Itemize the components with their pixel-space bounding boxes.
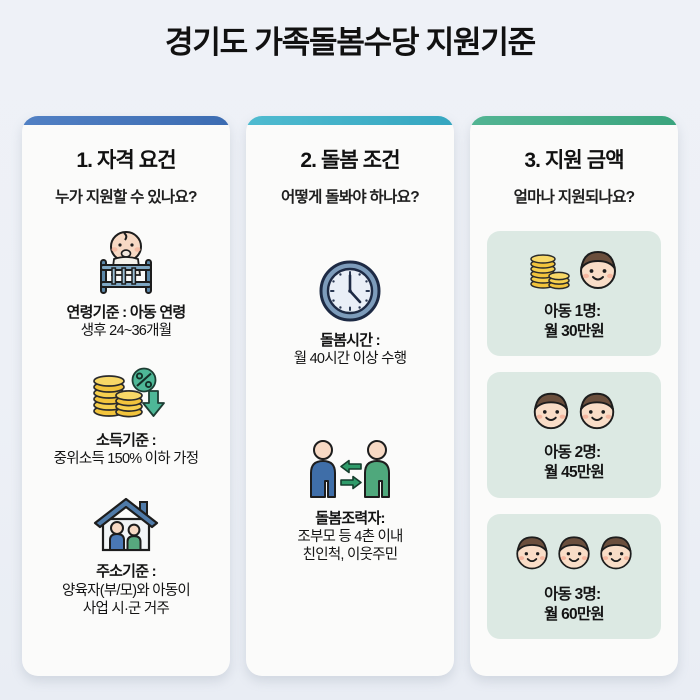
coins-percent-down-icon <box>87 367 165 423</box>
text-line: 소득기준 : <box>54 431 199 450</box>
item-care-hours: 돌봄시간 : 월 40시간 이상 수행 <box>246 259 454 369</box>
clock-icon <box>318 259 382 323</box>
card-accent-bar-blue <box>22 116 230 125</box>
money-box-three-children: 아동 3명: 월 60만원 <box>487 514 661 639</box>
card-accent-bar-green <box>470 116 678 125</box>
money-box-one-child: 아동 1명: 월 30만원 <box>487 231 661 356</box>
money-box-one-child-text: 아동 1명: 월 30만원 <box>544 302 604 342</box>
card-2-heading: 2. 돌봄 조건 <box>300 144 399 174</box>
card-2-subheading: 어떻게 돌봐야 하나요? <box>281 185 419 207</box>
text-line: 월 45만원 <box>544 463 604 483</box>
item-income-criteria: 소득기준 : 중위소득 150% 이하 가정 <box>22 367 230 469</box>
baby-crib-icon <box>89 229 163 295</box>
card-1-subheading: 누가 지원할 수 있나요? <box>55 185 197 207</box>
card-3-heading: 3. 지원 금액 <box>524 144 623 174</box>
money-box-two-children-text: 아동 2명: 월 45만원 <box>544 443 604 483</box>
child-face-icon <box>596 532 636 572</box>
coins-one-child-icon <box>527 243 621 295</box>
item-income-criteria-text: 소득기준 : 중위소득 150% 이하 가정 <box>54 431 199 469</box>
card-3-subheading: 얼마나 지원되나요? <box>514 185 635 207</box>
text-line: 생후 24~36개월 <box>67 322 186 341</box>
text-line: 주소기준 : <box>62 562 190 581</box>
card-care-conditions: 2. 돌봄 조건 어떻게 돌봐야 하나요? <box>246 116 454 676</box>
house-family-icon <box>88 494 164 554</box>
text-line: 사업 시·군 거주 <box>62 600 190 619</box>
text-line: 월 40시간 이상 수행 <box>294 350 407 369</box>
card-accent-bar-teal <box>246 116 454 125</box>
text-line: 아동 2명: <box>544 443 604 463</box>
page-title: 경기도 가족돌봄수당 지원기준 <box>0 26 700 60</box>
child-face-icon <box>575 388 619 432</box>
text-line: 돌봄시간 : <box>294 331 407 350</box>
cards-row: 1. 자격 요건 누가 지원할 수 있나요? <box>22 116 678 676</box>
two-people-exchange-icon <box>304 439 396 501</box>
text-line: 조부모 등 4촌 이내 <box>297 528 402 547</box>
item-care-helper-text: 돌봄조력자: 조부모 등 4촌 이내 친인척, 이웃주민 <box>297 509 402 565</box>
card-qualification: 1. 자격 요건 누가 지원할 수 있나요? <box>22 116 230 676</box>
card-1-heading: 1. 자격 요건 <box>76 144 175 174</box>
money-box-three-children-text: 아동 3명: 월 60만원 <box>544 585 604 625</box>
title-area: 경기도 가족돌봄수당 지원기준 <box>0 26 700 60</box>
item-care-hours-text: 돌봄시간 : 월 40시간 이상 수행 <box>294 331 407 369</box>
infographic-page: 경기도 가족돌봄수당 지원기준 1. 자격 요건 누가 지원할 수 있나요? <box>0 0 700 700</box>
text-line: 연령기준 : 아동 연령 <box>67 303 186 322</box>
child-face-icon <box>575 246 621 292</box>
item-address-criteria: 주소기준 : 양육자(부/모)와 아동이 사업 시·군 거주 <box>22 494 230 618</box>
text-line: 아동 3명: <box>544 585 604 605</box>
card-support-amount: 3. 지원 금액 얼마나 지원되나요? <box>470 116 678 676</box>
text-line: 아동 1명: <box>544 302 604 322</box>
text-line: 월 30만원 <box>544 322 604 342</box>
item-age-criteria: 연령기준 : 아동 연령 생후 24~36개월 <box>22 229 230 341</box>
item-age-criteria-text: 연령기준 : 아동 연령 생후 24~36개월 <box>67 303 186 341</box>
two-children-icon <box>529 384 619 436</box>
text-line: 돌봄조력자: <box>297 509 402 528</box>
item-care-helper: 돌봄조력자: 조부모 등 4촌 이내 친인척, 이웃주민 <box>246 439 454 565</box>
child-face-icon <box>554 532 594 572</box>
text-line: 친인척, 이웃주민 <box>297 546 402 565</box>
text-line: 월 60만원 <box>544 605 604 625</box>
money-box-two-children: 아동 2명: 월 45만원 <box>487 372 661 497</box>
text-line: 양육자(부/모)와 아동이 <box>62 582 190 601</box>
item-address-criteria-text: 주소기준 : 양육자(부/모)와 아동이 사업 시·군 거주 <box>62 562 190 618</box>
child-face-icon <box>512 532 552 572</box>
text-line: 중위소득 150% 이하 가정 <box>54 450 199 469</box>
child-face-icon <box>529 388 573 432</box>
three-children-icon <box>512 526 636 578</box>
